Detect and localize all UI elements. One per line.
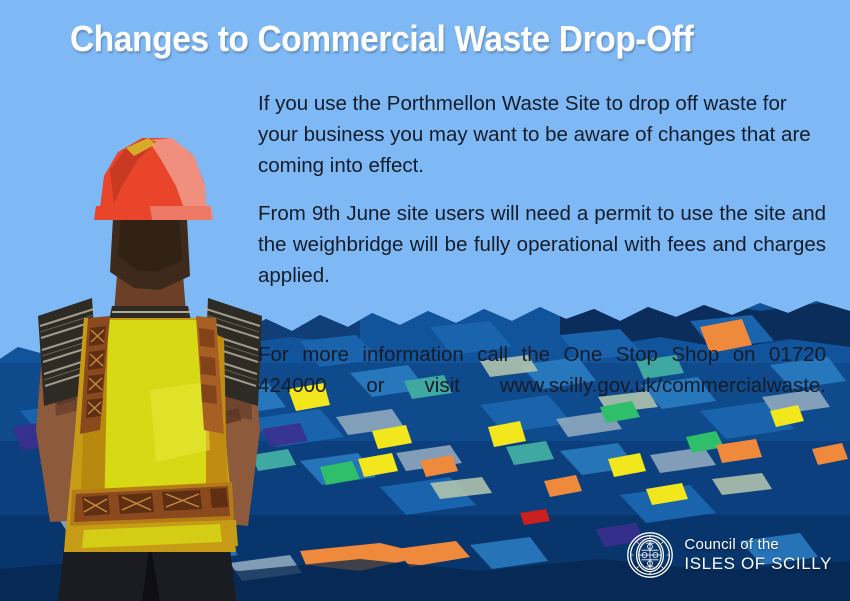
page-title: Changes to Commercial Waste Drop-Off: [70, 18, 795, 59]
paragraph-permit: From 9th June site users will need a per…: [258, 198, 826, 322]
council-logo: Council of the ISLES OF SCILLY: [626, 531, 832, 579]
worker-illustration: [0, 90, 300, 601]
paragraph-contact: For more information call the One Stop S…: [258, 339, 826, 432]
council-logo-line-1: Council of the: [684, 537, 832, 554]
paragraph-intro: If you use the Porthmellon Waste Site to…: [258, 88, 826, 181]
council-logo-text: Council of the ISLES OF SCILLY: [684, 537, 832, 573]
council-logo-line-2: ISLES OF SCILLY: [684, 554, 832, 573]
poster-canvas: Changes to Commercial Waste Drop-Off If …: [0, 0, 850, 601]
isles-of-scilly-crest-icon: [626, 531, 674, 579]
body-copy: If you use the Porthmellon Waste Site to…: [258, 88, 826, 432]
